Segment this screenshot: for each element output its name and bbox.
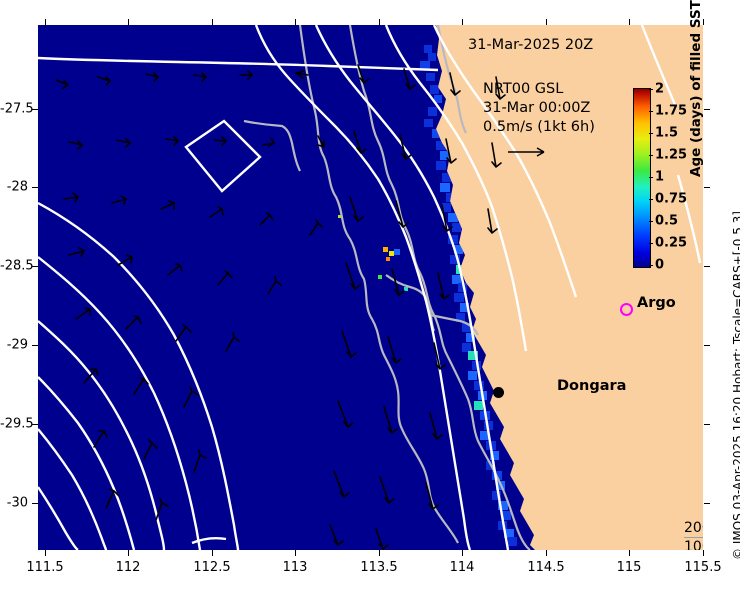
y-axis-label: -28	[0, 180, 28, 195]
figure-canvas: 31-Mar-2025 20Z NRT00 GSL 31-Mar 00:00Z …	[0, 0, 740, 592]
x-axis-tick-top	[703, 19, 704, 25]
x-axis-tick-top	[45, 19, 46, 25]
x-axis-tick	[128, 550, 129, 556]
x-axis-label: 112	[116, 560, 141, 575]
y-axis-tick-right	[704, 503, 710, 504]
source-time-label: 31-Mar 00:00Z	[483, 99, 595, 118]
y-axis-label: -28.5	[0, 259, 28, 274]
colorbar-tick-label: 1.5	[655, 126, 678, 141]
depth-200m-label: 200m	[684, 519, 703, 538]
argo-label: Argo	[637, 295, 676, 311]
x-axis-tick	[295, 550, 296, 556]
contours-and-currents-overlay	[38, 25, 703, 550]
depth-contour-legend: 200m 1000m	[684, 519, 703, 550]
x-axis-label: 113	[283, 560, 308, 575]
colorbar-tick-label: 1.25	[655, 148, 687, 163]
date-stamp-label: 31-Mar-2025 20Z	[468, 37, 593, 53]
colorbar-tick	[649, 133, 653, 134]
x-axis-tick-top	[629, 19, 630, 25]
x-axis-label: 112.5	[193, 560, 230, 575]
y-axis-tick-right	[704, 345, 710, 346]
map-plot-area: 31-Mar-2025 20Z NRT00 GSL 31-Mar 00:00Z …	[38, 25, 703, 550]
x-axis-label: 111.5	[26, 560, 63, 575]
y-axis-label: -29.5	[0, 417, 28, 432]
colorbar-tick-label: 1	[655, 170, 664, 185]
y-axis-tick-right	[704, 187, 710, 188]
colorbar-title: Age (days) of filled SST (wrt latest)	[688, 0, 704, 177]
current-vector-field	[56, 65, 505, 549]
depth-200m-rule	[684, 537, 703, 538]
colorbar-tick	[649, 243, 653, 244]
y-axis-tick	[32, 503, 38, 504]
depth-1000m-label: 1000m	[684, 538, 703, 550]
x-axis-tick	[45, 550, 46, 556]
y-axis-label: -29	[0, 338, 28, 353]
x-axis-tick-top	[546, 19, 547, 25]
colorbar-tick	[649, 89, 653, 90]
x-axis-label: 113.5	[360, 560, 397, 575]
colorbar-tick-label: 0.75	[655, 192, 687, 207]
colorbar-tick-label: 0.25	[655, 236, 687, 251]
colorbar-tick	[649, 199, 653, 200]
vector-scale-label: 0.5m/s (1kt 6h)	[483, 118, 595, 137]
colorbar-tick-label: 0.5	[655, 214, 678, 229]
ssh-contour-group	[38, 25, 700, 550]
y-axis-tick-right	[704, 109, 710, 110]
colorbar-tick	[649, 221, 653, 222]
source-model-label: NRT00 GSL	[483, 80, 595, 99]
colorbar-tick	[649, 265, 653, 266]
argo-marker[interactable]	[620, 303, 633, 316]
x-axis-tick-top	[128, 19, 129, 25]
x-axis-tick-top	[379, 19, 380, 25]
colorbar-tick	[649, 155, 653, 156]
colorbar-tick-label: 2	[655, 82, 664, 97]
x-axis-tick	[703, 550, 704, 556]
x-axis-tick-top	[295, 19, 296, 25]
colorbar-tick-label: 1.75	[655, 104, 687, 119]
x-axis-tick	[379, 550, 380, 556]
y-axis-label: -27.5	[0, 102, 28, 117]
y-axis-label: -30	[0, 496, 28, 511]
y-axis-tick-right	[704, 266, 710, 267]
dongara-label: Dongara	[557, 378, 626, 394]
x-axis-label: 115	[617, 560, 642, 575]
x-axis-tick	[462, 550, 463, 556]
x-axis-tick	[546, 550, 547, 556]
source-info-block: NRT00 GSL 31-Mar 00:00Z 0.5m/s (1kt 6h)	[483, 80, 595, 137]
x-axis-tick	[212, 550, 213, 556]
x-axis-tick	[629, 550, 630, 556]
x-axis-label: 114.5	[527, 560, 564, 575]
reference-vector-arrow-icon	[506, 145, 552, 159]
dongara-marker[interactable]	[493, 387, 504, 398]
colorbar-tick	[649, 111, 653, 112]
x-axis-label: 114	[450, 560, 475, 575]
colorbar-tick	[649, 177, 653, 178]
colorbar-tick-label: 0	[655, 258, 664, 273]
x-axis-tick-top	[462, 19, 463, 25]
y-axis-tick	[32, 345, 38, 346]
x-axis-label: 115.5	[684, 560, 721, 575]
y-axis-tick-right	[704, 424, 710, 425]
y-axis-tick	[32, 187, 38, 188]
x-axis-tick-top	[212, 19, 213, 25]
colorbar-gradient	[633, 88, 651, 268]
copyright-label: © IMOS 03-Apr-2025 16:20 Hobart; Tscale=…	[731, 211, 740, 560]
